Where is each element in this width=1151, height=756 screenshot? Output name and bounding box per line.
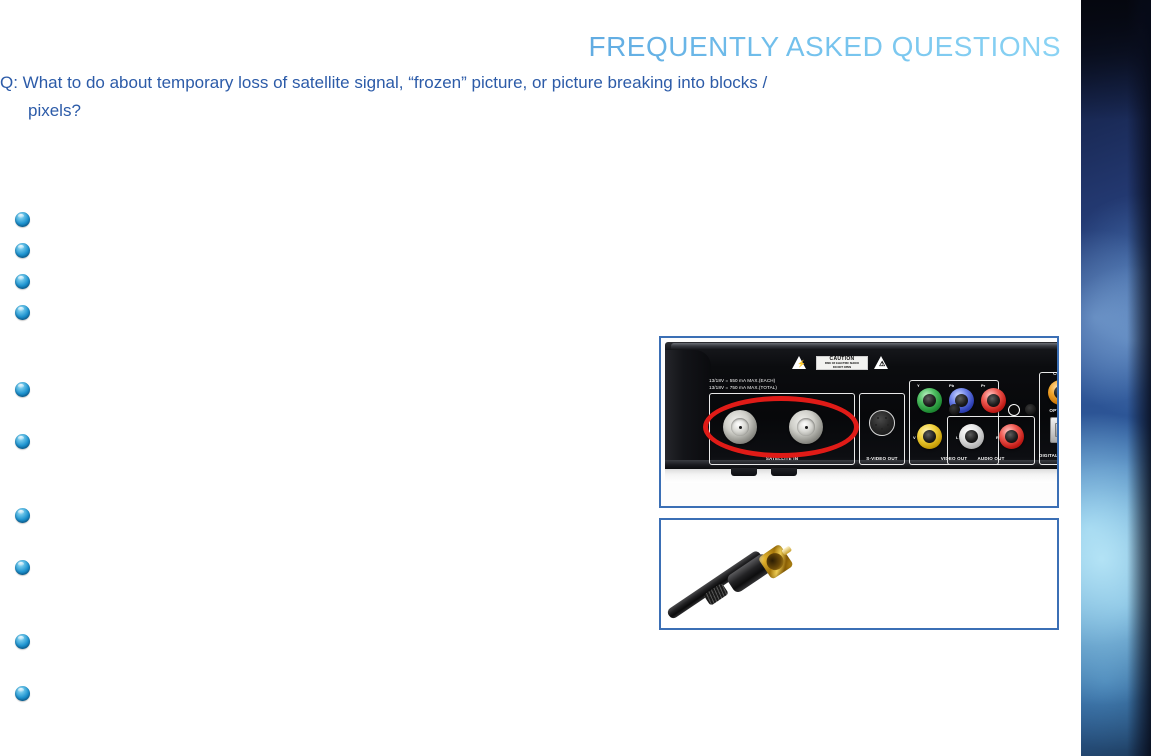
panel-right-shading [1127,0,1151,756]
page-title: FREQUENTLY ASKED QUESTIONS [0,31,1061,63]
jack-label-pb: Pb [949,383,954,388]
coax-cable-photo [661,520,1057,628]
component-pr-jack [981,388,1006,413]
jack-label-coax: COAX [1039,371,1059,376]
s-video-out-connector [869,410,895,436]
bullet-marker-9 [15,634,30,649]
f-connector-center-pin [781,545,792,555]
caution-plate: CAUTION RISK OF ELECTRIC SHOCK DO NOT OP… [816,356,868,370]
screw-hole-far-right [1025,404,1036,415]
power-spec-line-1: 13/18V = 550 mA MAX.(EACH) [709,378,834,385]
warning-triangle-right: ⚠ [874,356,888,369]
component-y-jack [917,388,942,413]
caution-sub-line-2: DO NOT OPEN [833,366,851,369]
group-label-s-video-out: S-VIDEO OUT [859,456,905,461]
bullet-marker-3 [15,274,30,289]
screw-hole-right [1008,404,1020,416]
jack-label-y: Y [917,383,920,388]
audio-out-right-jack [999,424,1024,449]
jack-label-optical: OPTICAL [1039,408,1059,413]
power-spec-line-2: 13/18V = 750 mA MAX.(TOTAL) [709,385,834,392]
bullet-marker-1 [15,212,30,227]
warning-triangle-left: ⚡ [792,356,806,369]
bullet-marker-5 [15,382,30,397]
bullet-marker-6 [15,434,30,449]
figure-coax-cable [659,518,1059,630]
figure-receiver-rear-panel: ⚡ CAUTION RISK OF ELECTRIC SHOCK DO NOT … [659,336,1059,508]
power-spec-text: 13/18V = 550 mA MAX.(EACH) 13/18V = 750 … [709,378,834,393]
decorative-blue-side-panel [1081,0,1151,756]
panel-top-shading [1081,0,1151,120]
bullet-marker-10 [15,686,30,701]
jack-label-pr: Pr [981,383,985,388]
audio-out-left-jack [959,424,984,449]
faq-question-line-1: Q: What to do about temporary loss of sa… [0,69,1045,97]
bullet-marker-7 [15,508,30,523]
receiver-photo: ⚡ CAUTION RISK OF ELECTRIC SHOCK DO NOT … [661,338,1057,506]
receiver-top-lip [671,343,1059,350]
group-label-audio-out: AUDIO OUT [947,456,1035,461]
screw-hole-center [949,404,960,415]
jack-label-l: L [956,435,958,440]
receiver-foot-left [731,468,757,476]
bullet-marker-2 [15,243,30,258]
jack-label-r: R [996,435,999,440]
receiver-foot-right [771,468,797,476]
bullet-marker-4 [15,305,30,320]
jack-label-v: V [913,435,916,440]
composite-video-jack [917,424,942,449]
faq-question: Q: What to do about temporary loss of sa… [0,69,1045,125]
receiver-shelf-surface [665,469,1059,483]
receiver-left-corner [665,350,711,467]
optical-toslink-jack [1050,417,1059,443]
red-highlight-ellipse [703,396,859,458]
faq-question-line-2: pixels? [0,97,1045,125]
group-label-digital-audio-out: DIGITAL AUDIO OUT [1039,453,1059,458]
bullet-marker-8 [15,560,30,575]
